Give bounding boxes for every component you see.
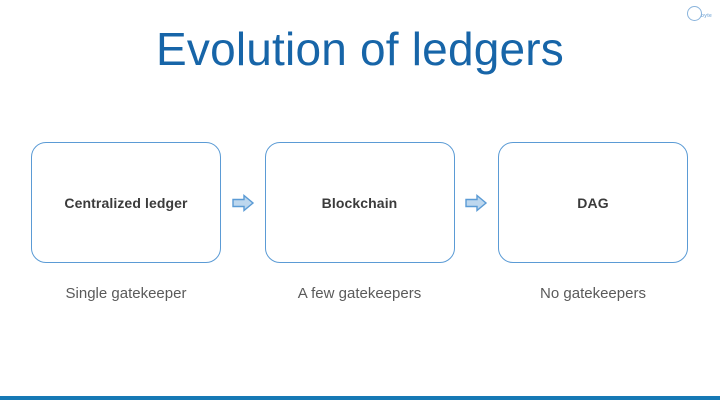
flow-caption-single-gatekeeper: Single gatekeeper bbox=[31, 285, 221, 302]
slide: byte Evolution of ledgers Centralized le… bbox=[0, 0, 720, 405]
flow-node-blockchain: Blockchain bbox=[265, 142, 455, 263]
page-title: Evolution of ledgers bbox=[0, 22, 720, 76]
right-arrow-icon bbox=[464, 191, 488, 215]
flow-node-label: Centralized ledger bbox=[64, 195, 187, 211]
logo-text: byte bbox=[701, 13, 712, 19]
flow-captions: Single gatekeeper A few gatekeepers No g… bbox=[31, 285, 688, 302]
flow-node-dag: DAG bbox=[498, 142, 688, 263]
flow-node-label: DAG bbox=[577, 195, 608, 211]
right-arrow-icon bbox=[231, 191, 255, 215]
flow-node-centralized-ledger: Centralized ledger bbox=[31, 142, 221, 263]
logo: byte bbox=[687, 6, 712, 21]
circle-outline-logo-mark-icon bbox=[687, 6, 702, 21]
flow-diagram: Centralized ledger Blockchain DAG bbox=[31, 142, 688, 263]
footer-accent-bar bbox=[0, 396, 720, 400]
flow-caption-no-gatekeepers: No gatekeepers bbox=[498, 285, 688, 302]
flow-node-label: Blockchain bbox=[322, 195, 398, 211]
flow-caption-a-few-gatekeepers: A few gatekeepers bbox=[265, 285, 455, 302]
